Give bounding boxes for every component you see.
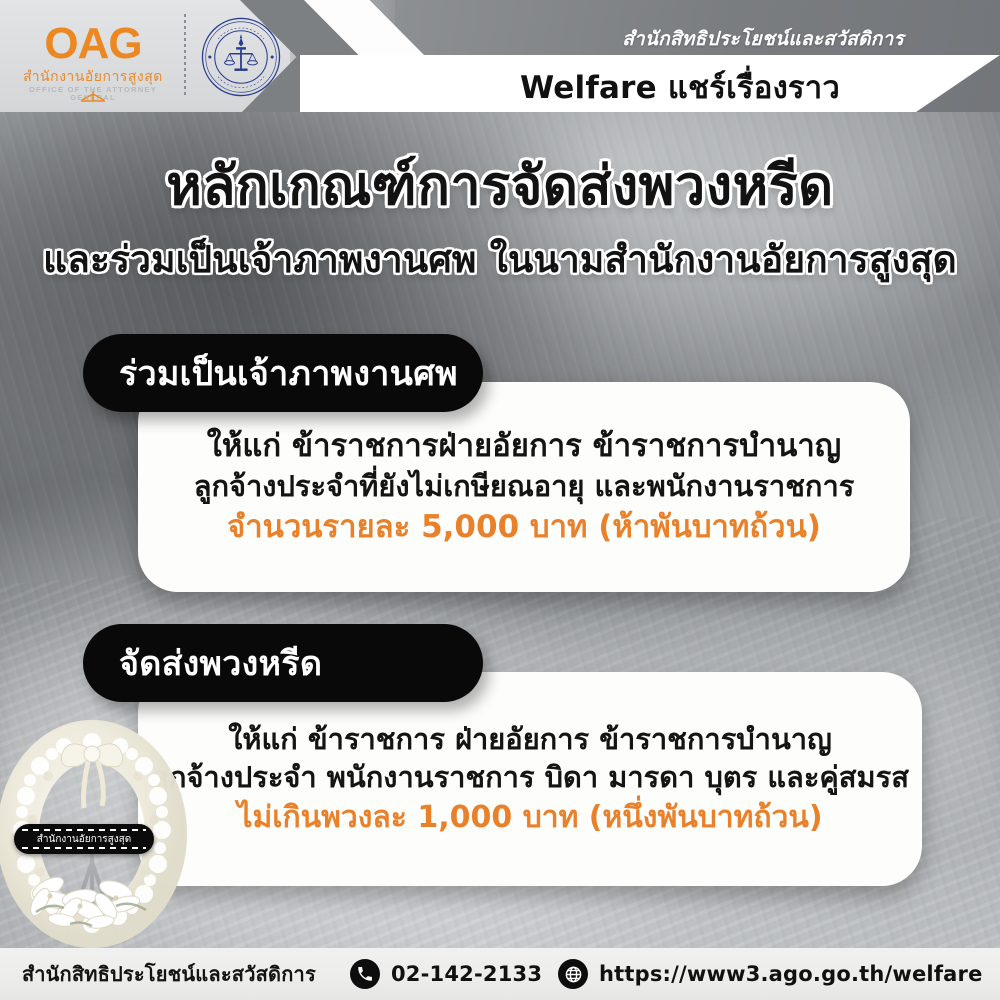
page-subtitle: และร่วมเป็นเจ้าภาพงานศพ ในนามสำนักงานอัย… — [0, 230, 1000, 289]
section-card-1: ให้แก่ ข้าราชการฝ่ายอัยการ ข้าราชการบำนา… — [138, 382, 910, 592]
page-title: หลักเกณฑ์การจัดส่งพวงหรีด — [0, 142, 1000, 228]
footer-phone-group[interactable]: 02-142-2133 — [350, 959, 542, 989]
section-card-2: ให้แก่ ข้าราชการ ฝ่ายอัยการ ข้าราชการบำน… — [138, 672, 922, 886]
globe-icon — [558, 959, 588, 989]
header-department-label: สำนักสิทธิประโยชน์และสวัสดิการ — [622, 24, 904, 54]
section-2-heading-label: จัดส่งพวงหรีด — [119, 636, 322, 690]
footer-department-label: สำนักสิทธิประโยชน์และสวัสดิการ — [22, 958, 316, 990]
wreath-ribbon-banner: สำนักงานอัยการสูงสุด — [14, 824, 154, 854]
phone-icon — [350, 959, 380, 989]
section-2-heading-pill: จัดส่งพวงหรีด — [83, 624, 483, 702]
section-1-line-2: ลูกจ้างประจำที่ยังไม่เกษียณอายุ และพนักง… — [194, 467, 855, 505]
section-1-amount: จำนวนรายละ 5,000 บาท (ห้าพันบาทถ้วน) — [227, 507, 821, 548]
poster-canvas: OAG สำนักงานอัยการสูงสุด OFFICE OF THE A… — [0, 0, 1000, 1000]
oag-thai-name: สำนักงานอัยการสูงสุด — [14, 70, 172, 84]
scales-of-justice-icon — [72, 91, 114, 103]
footer-phone-number: 02-142-2133 — [391, 962, 542, 986]
footer-website-url: https://www3.ago.go.th/welfare — [599, 962, 983, 986]
header-bar: OAG สำนักงานอัยการสูงสุด OFFICE OF THE A… — [0, 0, 1000, 112]
footer-website-group[interactable]: https://www3.ago.go.th/welfare — [558, 959, 983, 989]
oag-logo: OAG สำนักงานอัยการสูงสุด OFFICE OF THE A… — [14, 22, 172, 101]
header-title: Welfare แชร์เรื่องราว — [520, 62, 840, 112]
header-dotted-divider — [184, 14, 186, 98]
wreath-ribbon-label: สำนักงานอัยการสูงสุด — [37, 832, 131, 847]
footer-bar: สำนักสิทธิประโยชน์และสวัสดิการ 02-142-21… — [0, 948, 1000, 1000]
section-1-heading-pill: ร่วมเป็นเจ้าภาพงานศพ — [83, 334, 483, 412]
oag-wordmark: OAG — [14, 22, 172, 66]
section-2-line-1: ให้แก่ ข้าราชการ ฝ่ายอัยการ ข้าราชการบำน… — [228, 720, 832, 758]
section-1-line-1: ให้แก่ ข้าราชการฝ่ายอัยการ ข้าราชการบำนา… — [207, 426, 841, 467]
section-2-line-2: ลูกจ้างประจำ พนักงานราชการ บิดา มารดา บุ… — [151, 758, 909, 796]
section-1-heading-label: ร่วมเป็นเจ้าภาพงานศพ — [119, 346, 458, 400]
funeral-wreath-photo: สำนักงานอัยการสูงสุด — [0, 712, 192, 950]
oag-seal-icon — [200, 16, 282, 98]
section-2-amount: ไม่เกินพวงละ 1,000 บาท (หนึ่งพันบาทถ้วน) — [237, 798, 822, 838]
